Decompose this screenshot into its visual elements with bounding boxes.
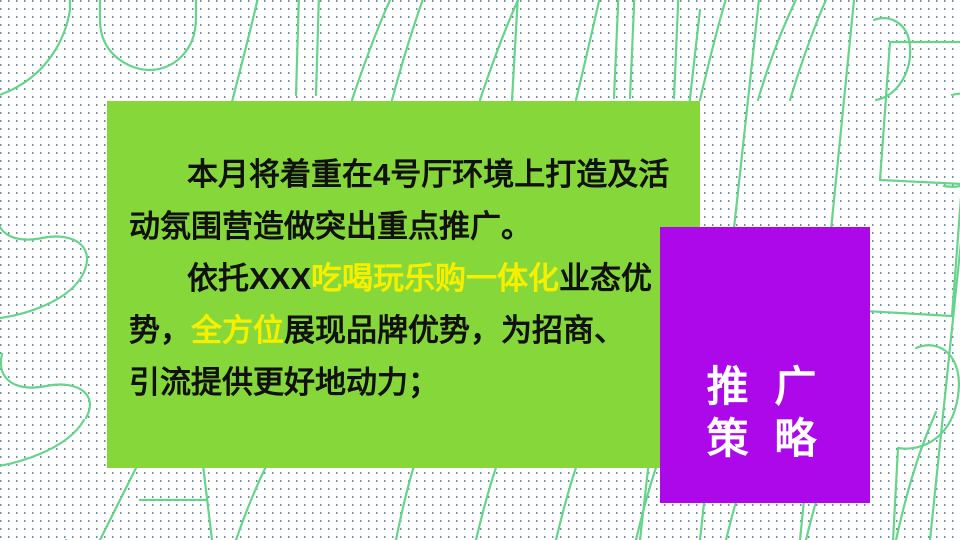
paragraph-2-line-1: 依托XXX吃喝玩乐购一体化业态优 <box>129 253 686 305</box>
content-panel: 本月将着重在4号厅环境上打造及活 动氛围营造做突出重点推广。 依托XXX吃喝玩乐… <box>107 101 700 468</box>
text-run-plain: 势， <box>129 313 191 348</box>
title-line-1: 推 广 <box>660 361 870 413</box>
title-text-block: 推 广 策 略 <box>660 361 870 465</box>
title-panel: 推 广 策 略 <box>660 227 870 503</box>
paragraph-2-line-2: 势，全方位展现品牌优势，为招商、 <box>129 305 686 357</box>
text-run-plain: 展现品牌优势，为招商、 <box>284 313 625 348</box>
text-run-plain: 依托XXX <box>187 261 311 296</box>
title-line-2: 策 略 <box>660 413 870 465</box>
text-run-highlight: 吃喝玩乐购一体化 <box>311 261 559 296</box>
body-text-block: 本月将着重在4号厅环境上打造及活 动氛围营造做突出重点推广。 依托XXX吃喝玩乐… <box>129 149 686 409</box>
text-run-plain: 业态优 <box>559 261 652 296</box>
paragraph-1-line-2: 动氛围营造做突出重点推广。 <box>129 201 686 253</box>
text-run-highlight: 全方位 <box>191 313 284 348</box>
slide-canvas: 本月将着重在4号厅环境上打造及活 动氛围营造做突出重点推广。 依托XXX吃喝玩乐… <box>0 0 960 540</box>
paragraph-1-line-1: 本月将着重在4号厅环境上打造及活 <box>129 149 686 201</box>
paragraph-2-line-3: 引流提供更好地动力； <box>129 357 686 409</box>
